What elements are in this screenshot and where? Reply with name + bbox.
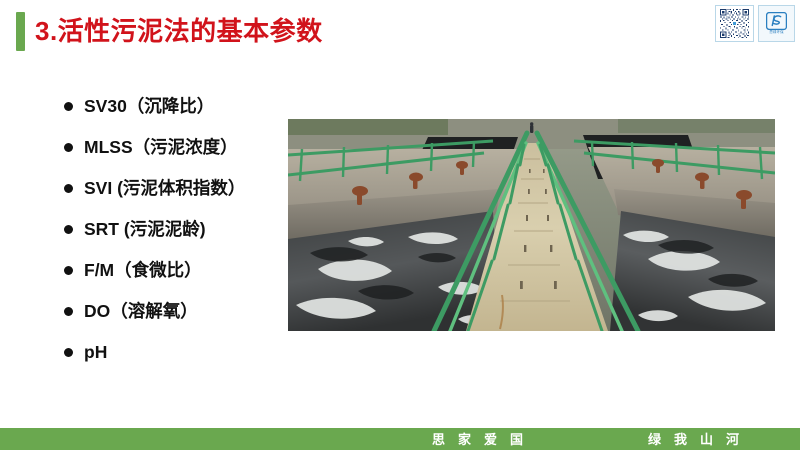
- title-text: 3.活性污泥法的基本参数: [35, 18, 323, 44]
- footer-bar: 思家爱国 绿我山河: [0, 428, 800, 450]
- list-item: MLSS（污泥浓度）: [64, 127, 284, 168]
- list-item-label: SRT (污泥泥龄): [84, 221, 206, 239]
- wastewater-aeration-basin-photo: 0: [288, 119, 775, 331]
- qr-code-icon[interactable]: [715, 5, 754, 42]
- list-item: SVI (污泥体积指数）: [64, 168, 284, 209]
- title-accent-bar: [16, 12, 25, 51]
- page-title: 3.活性污泥法的基本参数: [16, 11, 323, 51]
- badge-group: 思绿环保: [715, 5, 795, 42]
- list-item-label: pH: [84, 344, 107, 362]
- bullet-dot-icon: [64, 143, 73, 152]
- list-item-label: F/M（食微比）: [84, 262, 202, 280]
- bullet-dot-icon: [64, 225, 73, 234]
- slide-canvas: 3.活性污泥法的基本参数: [0, 0, 800, 450]
- bullet-dot-icon: [64, 348, 73, 357]
- footer-left-phrase: 思家爱国: [432, 433, 536, 446]
- bullet-dot-icon: [64, 102, 73, 111]
- parameter-bullet-list: SV30（沉降比） MLSS（污泥浓度） SVI (污泥体积指数） SRT (污…: [64, 86, 284, 373]
- footer-right-phrase: 绿我山河: [648, 433, 752, 446]
- list-item: F/M（食微比）: [64, 250, 284, 291]
- list-item-label: MLSS（污泥浓度）: [84, 139, 238, 157]
- list-item: SV30（沉降比）: [64, 86, 284, 127]
- list-item: DO（溶解氧）: [64, 291, 284, 332]
- list-item-label: SVI (污泥体积指数）: [84, 180, 245, 198]
- logo-caption: 思绿环保: [769, 31, 783, 34]
- list-item-label: DO（溶解氧）: [84, 303, 198, 321]
- company-logo-icon[interactable]: 思绿环保: [758, 5, 795, 42]
- list-item: pH: [64, 332, 284, 373]
- bullet-dot-icon: [64, 266, 73, 275]
- bullet-dot-icon: [64, 184, 73, 193]
- bullet-dot-icon: [64, 307, 73, 316]
- list-item: SRT (污泥泥龄): [64, 209, 284, 250]
- list-item-label: SV30（沉降比）: [84, 98, 214, 116]
